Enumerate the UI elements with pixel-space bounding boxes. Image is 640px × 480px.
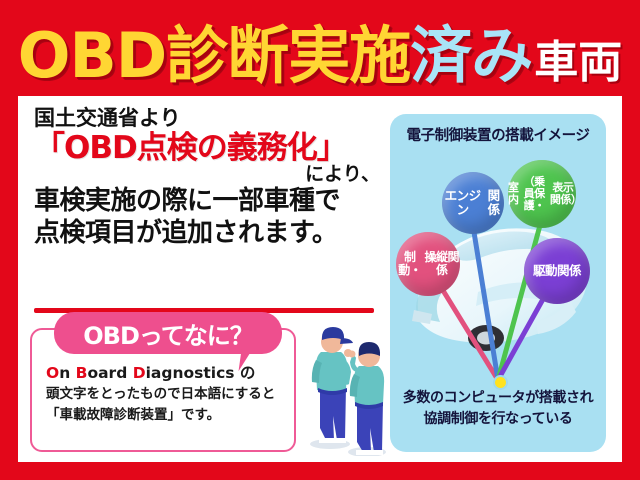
ecu-bubble-engine: エンジン関係 [442, 172, 504, 234]
ecu-footer-line-1: 多数のコンピュータが搭載され [390, 388, 606, 409]
ecu-bubble-brake: 制動・操縦関係 [396, 232, 460, 296]
acronym-oard: oard [87, 364, 132, 382]
two-people-icon [303, 316, 391, 456]
statement-line-5: 点検項目が追加されます。 [34, 218, 384, 249]
ecu-bubble-cabin: 室内（乗員保護・表示関係） [508, 160, 576, 228]
obd-explanation-line-3: 「車載故障診断装置」です。 [46, 405, 284, 426]
ecu-diagram-panel: 電子制御装置の搭載イメージ [390, 114, 606, 452]
statement-line-4: 車検実施の際に一部車種で [34, 186, 384, 217]
header-title-blue: 済み [410, 5, 532, 95]
statement-line-3: により、 [34, 164, 384, 185]
left-column: 国土交通省より 「OBD点検の義務化」 により、 車検実施の際に一部車種で 点検… [18, 96, 390, 462]
header-title-white: 車両 [534, 26, 622, 90]
acronym-on: n [59, 364, 75, 382]
obd-acronym-line: On Board Diagnostics の [46, 362, 284, 384]
obd-question-bubble: OBDってなに？ [54, 312, 282, 354]
people-illustration [303, 316, 391, 456]
acronym-b: B [76, 364, 88, 382]
content-frame: 国土交通省より 「OBD点検の義務化」 により、 車検実施の際に一部車種で 点検… [18, 96, 622, 462]
ecu-bubble-drive: 駆動関係 [524, 238, 590, 304]
obd-explanation-card: OBDってなに？ On Board Diagnostics の 頭文字をとったも… [30, 328, 296, 452]
ecu-footer-line-2: 協調制御を行なっている [390, 409, 606, 430]
statement-line-1: 国土交通省より [34, 106, 384, 130]
statement-line-2-highlight: 「OBD点検の義務化」 [34, 131, 384, 166]
ecu-panel-footer: 多数のコンピュータが搭載され 協調制御を行なっている [390, 388, 606, 430]
header-title: OBD診断実施 済み 車両 [18, 5, 622, 95]
acronym-o: O [46, 364, 59, 382]
acronym-d: D [133, 364, 146, 382]
poster-root: OBD診断実施 済み 車両 国土交通省より 「OBD点検の義務化」 により、 車… [0, 0, 640, 480]
poster-header: OBD診断実施 済み 車両 [0, 0, 640, 96]
statement-block: 国土交通省より 「OBD点検の義務化」 により、 車検実施の際に一部車種で 点検… [34, 106, 384, 249]
obd-question-label: OBDってなに？ [83, 316, 252, 351]
obd-explanation-body: On Board Diagnostics の 頭文字をとったもので日本語にすると… [46, 362, 284, 426]
header-title-yellow: OBD診断実施 [18, 5, 410, 95]
acronym-iagnostics: iagnostics の [146, 364, 256, 382]
obd-explanation-line-2: 頭文字をとったもので日本語にすると [46, 384, 284, 405]
